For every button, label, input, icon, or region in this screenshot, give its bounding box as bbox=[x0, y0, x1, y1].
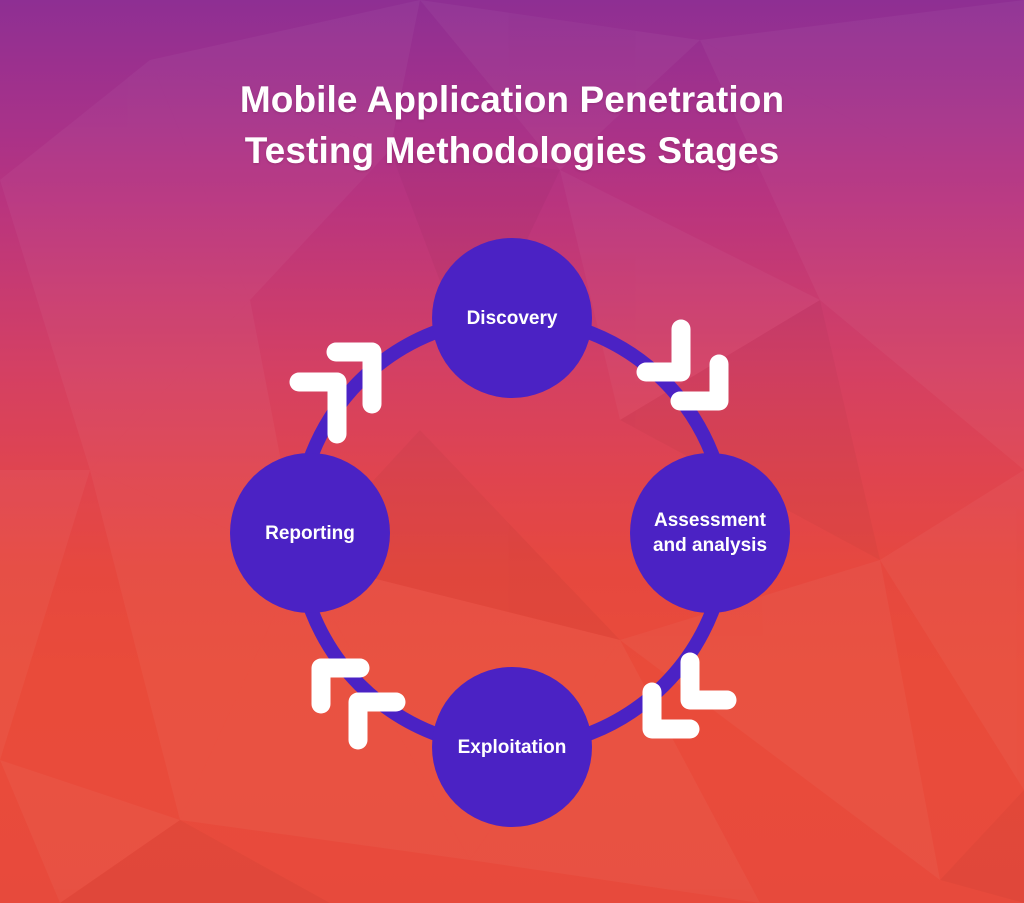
marker-bottom-right bbox=[652, 662, 727, 729]
marker-bottom-left bbox=[321, 668, 396, 740]
cycle-markers bbox=[0, 0, 1024, 903]
marker-top-right bbox=[646, 329, 719, 401]
infographic-canvas: Mobile Application Penetration Testing M… bbox=[0, 0, 1024, 903]
marker-top-left bbox=[299, 352, 372, 434]
